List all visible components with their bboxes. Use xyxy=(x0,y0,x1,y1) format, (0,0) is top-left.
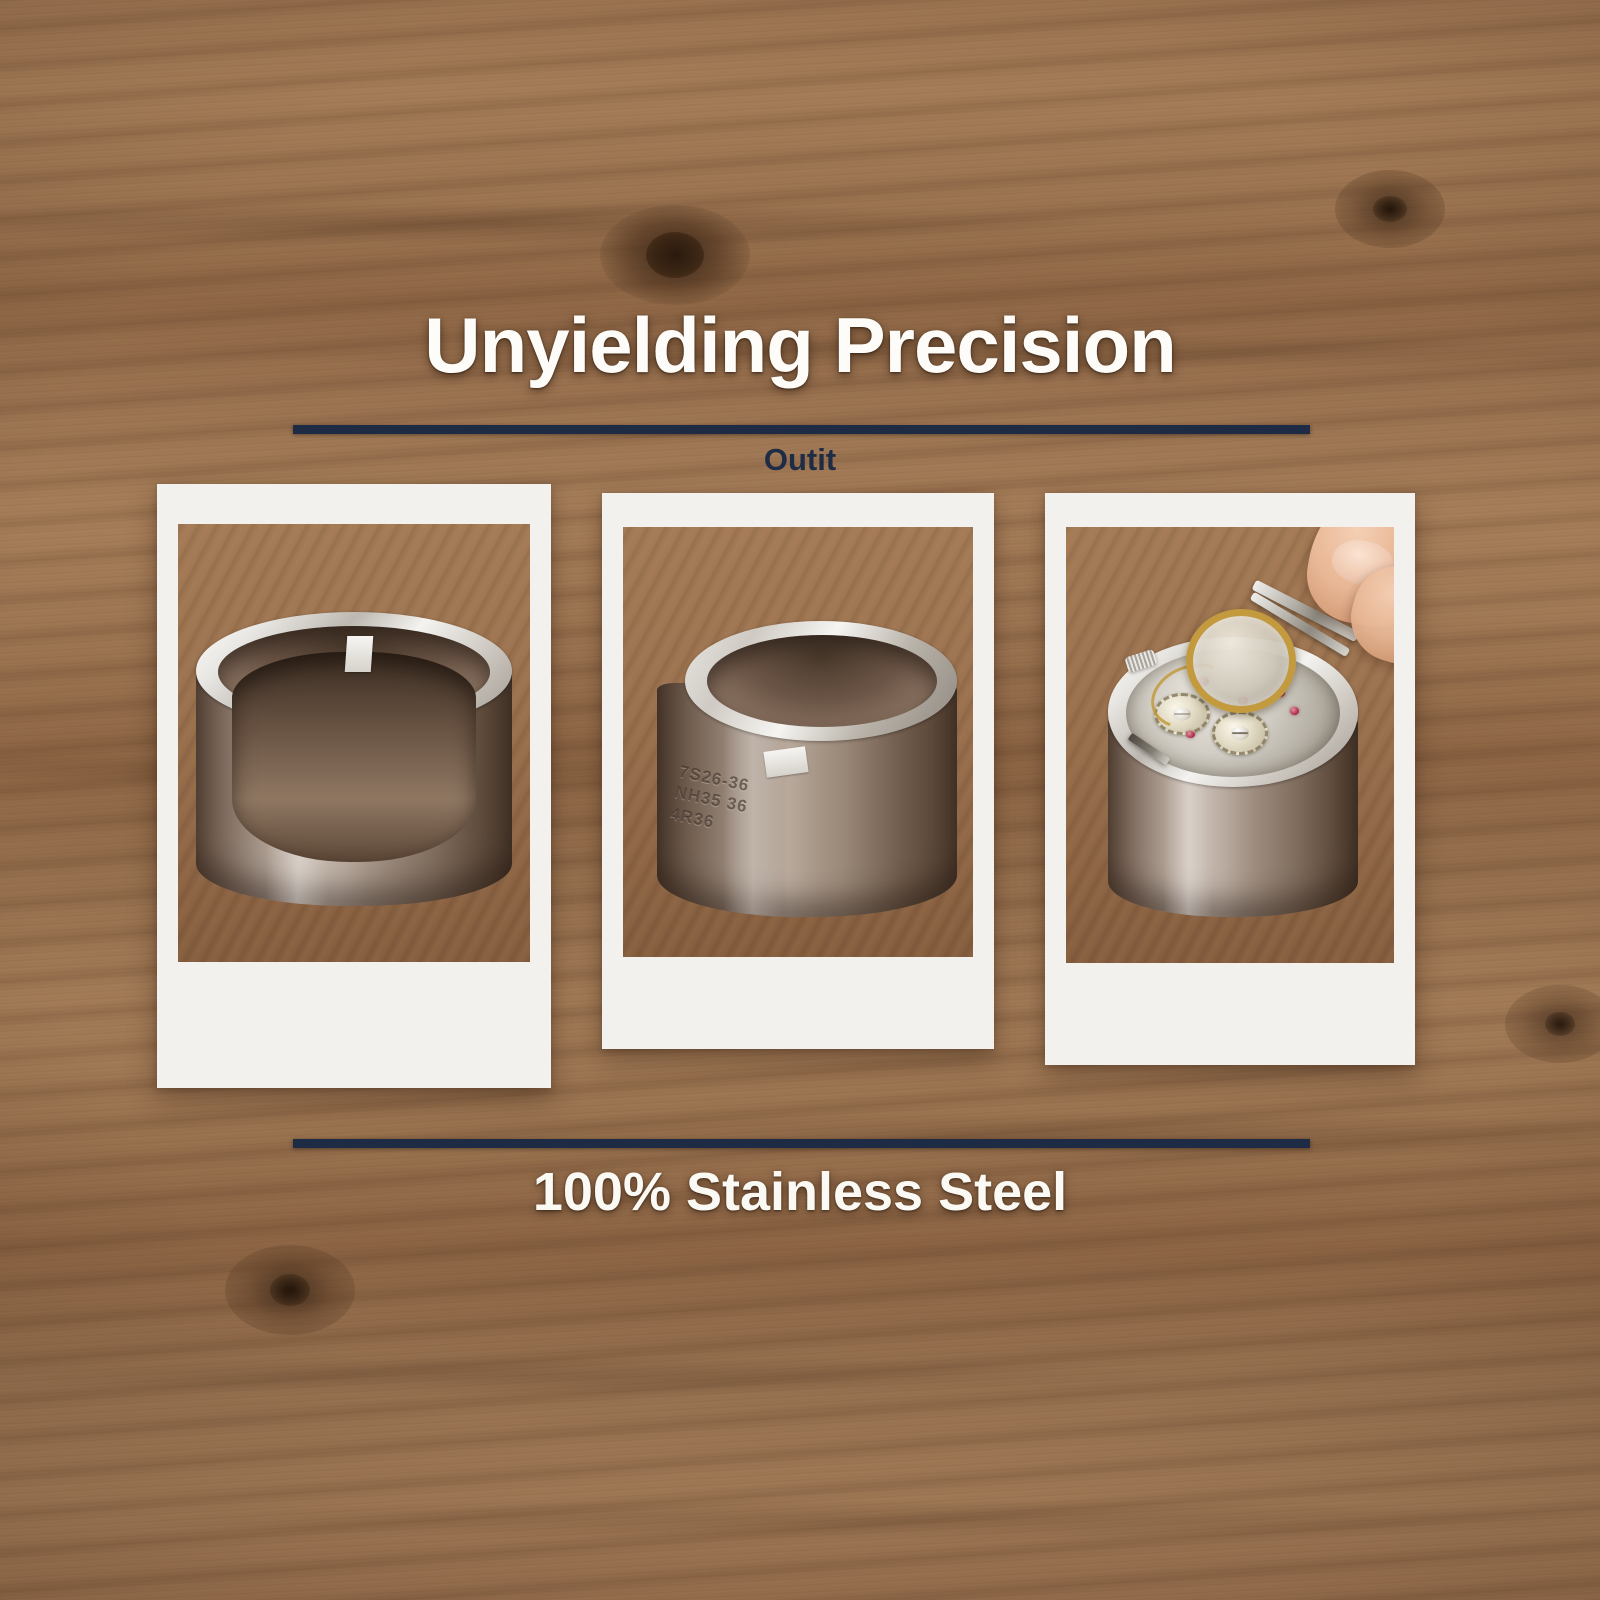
steel-case-ring xyxy=(196,612,512,912)
case-inner-wall xyxy=(232,652,476,862)
gear-medium xyxy=(1212,711,1268,755)
content-layer: Unyielding Precision Outit xyxy=(0,0,1600,1600)
jewel-bearing xyxy=(1186,731,1195,738)
steel-case-ring-engraved: 7S26-36 NH35 36 4R36 xyxy=(657,621,957,917)
polaroid-card-steel-case-engraved[interactable]: 7S26-36 NH35 36 4R36 xyxy=(602,493,994,1049)
photo-movement-assembly xyxy=(1066,527,1394,963)
photo-steel-case-engraved: 7S26-36 NH35 36 4R36 xyxy=(623,527,973,957)
polaroid-card-movement-assembly[interactable] xyxy=(1045,493,1415,1065)
footer-text: 100% Stainless Steel xyxy=(0,1163,1600,1222)
polaroid-card-steel-case-front[interactable] xyxy=(157,484,551,1088)
case-inner-bore xyxy=(707,635,937,727)
photo-steel-case-front xyxy=(178,524,530,962)
balance-wheel xyxy=(1186,609,1296,713)
divider-bottom xyxy=(293,1139,1310,1148)
case-keyway-notch xyxy=(345,636,374,672)
jewel-bearing xyxy=(1290,707,1299,715)
gear-screw xyxy=(1231,726,1249,740)
photo-gallery: 7S26-36 NH35 36 4R36 xyxy=(0,0,1600,1600)
